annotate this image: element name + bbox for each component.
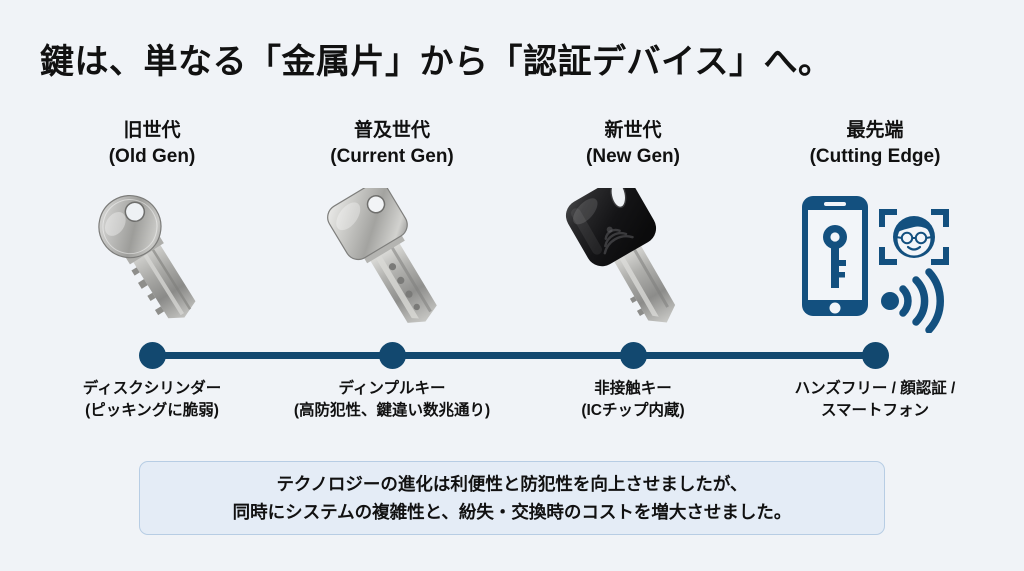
page-title: 鍵は、単なる「金属片」から「認証デバイス」へ。 xyxy=(40,34,832,83)
generation-caption-1: ディンプルキー (高防犯性、鍵違い数兆通り) xyxy=(267,378,517,423)
generation-header-jp-3: 最先端 xyxy=(755,118,995,144)
old-round-head-key-icon xyxy=(77,188,227,333)
generation-header-en-1: (Current Gen) xyxy=(272,144,512,170)
generation-caption-0: ディスクシリンダー (ピッキングに脆弱) xyxy=(27,378,277,423)
timeline-dot-1[interactable] xyxy=(379,342,406,369)
caption-main-0: ディスクシリンダー xyxy=(83,380,221,397)
summary-note-line-1: テクノロジーの進化は利便性と防犯性を向上させましたが、 xyxy=(276,470,747,498)
generation-header-jp-2: 新世代 xyxy=(513,118,753,144)
dimple-key-icon xyxy=(317,188,467,333)
timeline-dot-2[interactable] xyxy=(620,342,647,369)
generation-header-en-3: (Cutting Edge) xyxy=(755,144,995,170)
timeline-dot-0[interactable] xyxy=(139,342,166,369)
cutting-edge-artwork xyxy=(755,188,995,333)
generation-header-3: 最先端 (Cutting Edge) xyxy=(755,118,995,170)
slide-canvas: 鍵は、単なる「金属片」から「認証デバイス」へ。 旧世代 (Old Gen) 普及… xyxy=(0,0,1024,571)
generation-header-jp-1: 普及世代 xyxy=(272,118,512,144)
caption-main-2: 非接触キー xyxy=(594,380,672,397)
caption-sub-0: (ピッキングに脆弱) xyxy=(27,400,277,422)
caption-main-1: ディンプルキー xyxy=(339,380,446,397)
old-gen-artwork xyxy=(32,188,272,333)
current-gen-artwork xyxy=(272,188,512,333)
generation-caption-2: 非接触キー (ICチップ内蔵) xyxy=(508,378,758,423)
generation-header-en-2: (New Gen) xyxy=(513,144,753,170)
summary-note-line-2: 同時にシステムの複雑性と、紛失・交換時のコストを増大させました。 xyxy=(233,498,792,526)
caption-sub-1: (高防犯性、鍵違い数兆通り) xyxy=(267,400,517,422)
generation-header-0: 旧世代 (Old Gen) xyxy=(32,118,272,170)
generation-header-jp-0: 旧世代 xyxy=(32,118,272,144)
timeline-line xyxy=(150,352,877,359)
transponder-key-icon xyxy=(558,188,708,333)
timeline-dot-3[interactable] xyxy=(862,342,889,369)
caption-main-3: ハンズフリー / 顔認証 / xyxy=(795,380,956,397)
generation-header-2: 新世代 (New Gen) xyxy=(513,118,753,170)
caption-sub-2: (ICチップ内蔵) xyxy=(508,400,758,422)
generation-header-en-0: (Old Gen) xyxy=(32,144,272,170)
generation-header-1: 普及世代 (Current Gen) xyxy=(272,118,512,170)
generation-caption-3: ハンズフリー / 顔認証 / スマートフォン xyxy=(750,378,1000,423)
smartphone-faceid-nfc-icon xyxy=(790,188,960,333)
summary-note-box: テクノロジーの進化は利便性と防犯性を向上させましたが、 同時にシステムの複雑性と… xyxy=(139,461,885,535)
caption-sub-3: スマートフォン xyxy=(750,400,1000,422)
new-gen-artwork xyxy=(513,188,753,333)
